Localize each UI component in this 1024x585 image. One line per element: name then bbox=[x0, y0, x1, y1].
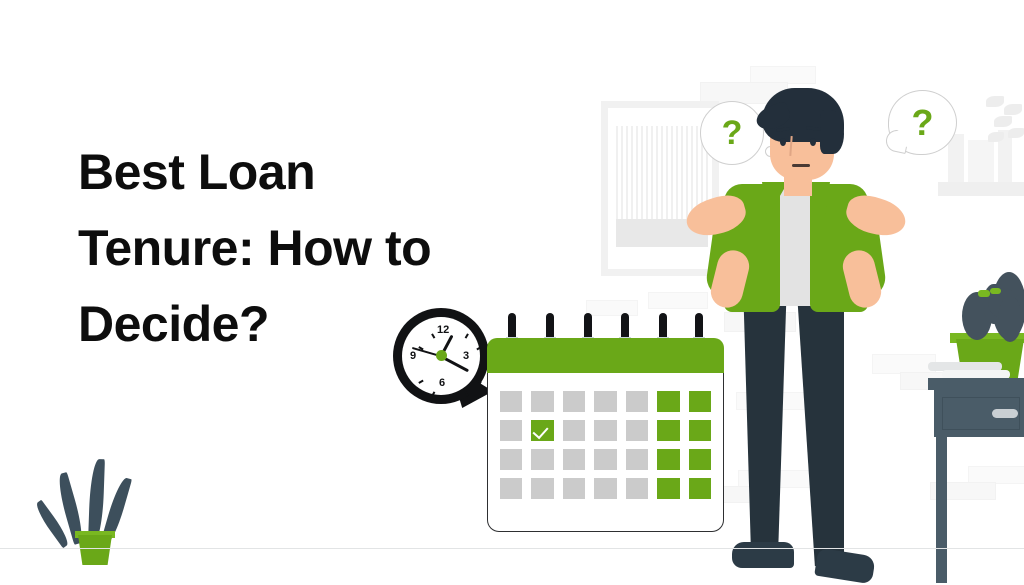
shelf-plant-leaf bbox=[1004, 104, 1022, 115]
calendar-cell bbox=[563, 420, 585, 441]
calendar-body bbox=[487, 373, 724, 532]
clock-numeral-12: 12 bbox=[437, 325, 449, 336]
question-mark-icon: ? bbox=[912, 102, 934, 144]
calendar-cell bbox=[531, 449, 553, 470]
cactus-flower bbox=[978, 290, 990, 297]
calendar-cell bbox=[563, 478, 585, 499]
calendar-cell bbox=[689, 478, 711, 499]
calendar-cell bbox=[689, 391, 711, 412]
calendar-cell-selected bbox=[531, 420, 553, 441]
calendar-cell bbox=[500, 420, 522, 441]
calendar-cell bbox=[594, 449, 616, 470]
clock-numeral-6: 6 bbox=[439, 378, 445, 389]
hair-side bbox=[820, 110, 844, 154]
floor-line bbox=[0, 548, 1024, 549]
calendar-cell bbox=[594, 478, 616, 499]
calendar-cell bbox=[563, 449, 585, 470]
calendar-cell bbox=[500, 478, 522, 499]
calendar-cell bbox=[626, 420, 648, 441]
cactus-arm bbox=[998, 296, 1022, 342]
calendar-grid bbox=[500, 391, 711, 499]
calendar-header bbox=[487, 338, 724, 374]
shelf-plant-leaf bbox=[986, 96, 1004, 107]
eye-left bbox=[780, 138, 786, 146]
drawer-handle bbox=[992, 409, 1018, 418]
calendar-cell bbox=[657, 420, 679, 441]
clock-tick bbox=[465, 333, 469, 338]
calendar-cell bbox=[531, 391, 553, 412]
clock-tick bbox=[431, 334, 435, 339]
illustration-canvas: Best LoanTenure: How toDecide? ? ? bbox=[0, 0, 1024, 585]
bg-block bbox=[648, 292, 708, 309]
calendar-cell bbox=[689, 420, 711, 441]
calendar-cell bbox=[594, 420, 616, 441]
shelf-plank bbox=[938, 182, 1024, 196]
calendar-cell bbox=[500, 449, 522, 470]
calendar-cell bbox=[563, 391, 585, 412]
clock-center-dot bbox=[436, 350, 447, 361]
page-title-line: Best Loan bbox=[78, 134, 508, 210]
clock-numeral-3: 3 bbox=[463, 351, 469, 362]
calendar-cell bbox=[689, 449, 711, 470]
calendar-cell bbox=[626, 391, 648, 412]
confused-man-shrugging bbox=[700, 80, 930, 580]
calendar-cell bbox=[531, 478, 553, 499]
side-table bbox=[928, 378, 1024, 583]
table-leg bbox=[936, 437, 947, 583]
desk-calendar bbox=[479, 313, 724, 532]
plant-pot bbox=[78, 535, 112, 565]
calendar-cell bbox=[657, 391, 679, 412]
cactus-flower bbox=[990, 288, 1001, 294]
page-title-line: Tenure: How to bbox=[78, 210, 508, 286]
shoe-right bbox=[814, 548, 876, 585]
calendar-cell bbox=[657, 449, 679, 470]
shelf-plant-leaf bbox=[994, 116, 1012, 127]
shoe-left bbox=[732, 542, 794, 568]
shelf-plant-leaf bbox=[1008, 128, 1024, 138]
clock-numeral-9: 9 bbox=[410, 351, 416, 362]
shelf-book bbox=[968, 140, 994, 182]
wall-clock: 12 3 6 9 bbox=[393, 308, 489, 404]
mouth bbox=[792, 164, 810, 167]
table-top bbox=[928, 378, 1024, 390]
calendar-cell bbox=[657, 478, 679, 499]
calendar-cell bbox=[500, 391, 522, 412]
calendar-cell bbox=[626, 478, 648, 499]
calendar-cell bbox=[626, 449, 648, 470]
clock-tick bbox=[419, 380, 424, 384]
calendar-cell bbox=[594, 391, 616, 412]
eye-right bbox=[810, 138, 816, 146]
shelf-plant-leaf bbox=[988, 132, 1004, 142]
